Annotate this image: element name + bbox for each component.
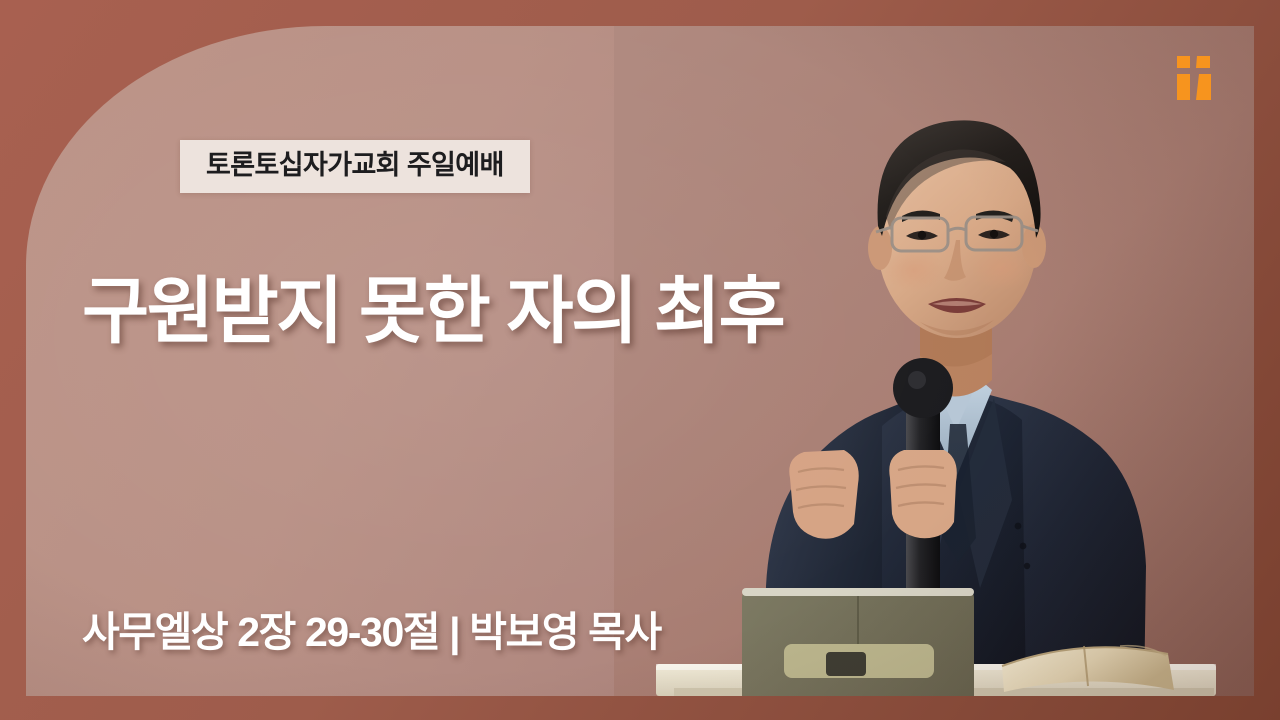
logo-ii-icon — [1168, 48, 1226, 106]
series-badge: 토론토십자가교회 주일예배 — [180, 140, 530, 193]
sermon-title-card: 토론토십자가교회 주일예배 구원받지 못한 자의 최후 사무엘상 2장 29-3… — [0, 0, 1280, 720]
speaker-photo-illustration — [614, 26, 1254, 696]
sermon-title: 구원받지 못한 자의 최후 — [82, 273, 783, 352]
sermon-subtitle: 사무엘상 2장 29-30절 | 박보영 목사 — [82, 610, 661, 655]
church-logo[interactable] — [1168, 48, 1226, 106]
content-panel: 토론토십자가교회 주일예배 구원받지 못한 자의 최후 사무엘상 2장 29-3… — [26, 26, 1254, 696]
tablet-stand-graphic — [742, 588, 974, 696]
speaker-photo — [614, 26, 1254, 696]
